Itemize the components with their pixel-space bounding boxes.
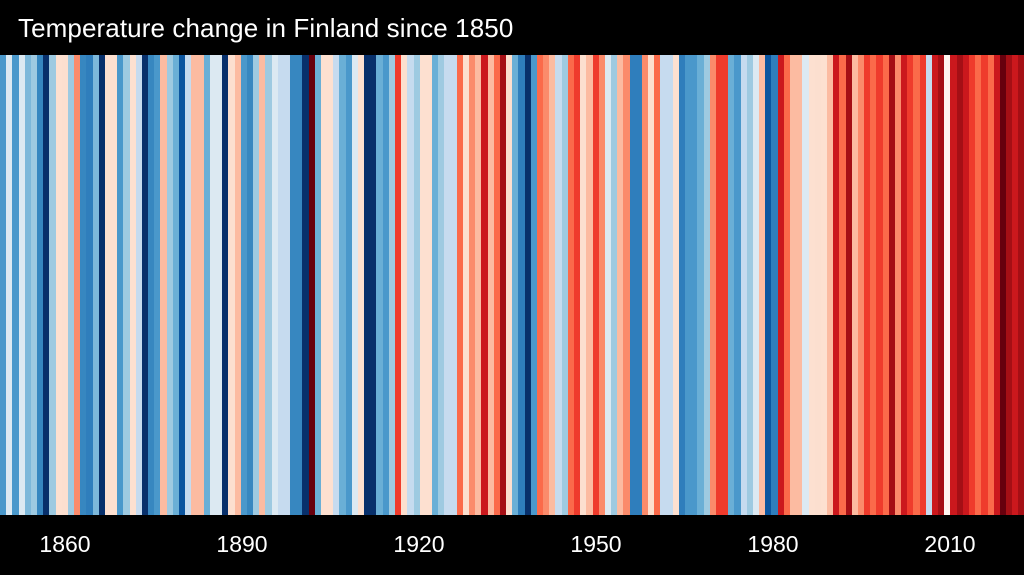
- year-stripe: [1018, 55, 1024, 515]
- stripes-plot-area: [0, 55, 1024, 515]
- x-axis-band: 186018901920195019802010: [0, 515, 1024, 575]
- x-axis-tick-label: 1980: [747, 531, 798, 558]
- x-axis-tick-label: 1860: [39, 531, 90, 558]
- x-axis-tick-label: 1890: [216, 531, 267, 558]
- warming-stripes-figure: Temperature change in Finland since 1850…: [0, 0, 1024, 575]
- page-title: Temperature change in Finland since 1850: [18, 13, 513, 44]
- x-axis-tick-label: 1920: [393, 531, 444, 558]
- x-axis-tick-label: 2010: [924, 531, 975, 558]
- x-axis-tick-label: 1950: [570, 531, 621, 558]
- title-band: Temperature change in Finland since 1850: [0, 0, 1024, 55]
